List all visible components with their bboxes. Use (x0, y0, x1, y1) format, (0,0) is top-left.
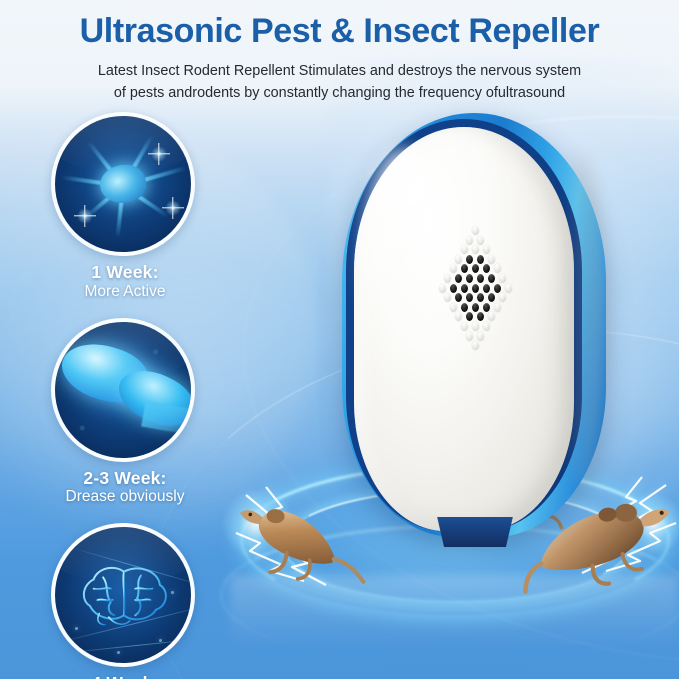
circle-gloss (55, 322, 191, 379)
subtitle-line-2: of pests androdents by constantly changi… (22, 83, 657, 105)
netdot (117, 651, 120, 654)
grille-hole (455, 293, 462, 302)
grille-hole (494, 303, 501, 312)
feature-label-primary: 1 Week: (0, 263, 250, 283)
feature-item: 2-3 Week: Drease obviously (0, 318, 250, 507)
feature-label-secondary: Drease obviously (0, 488, 250, 506)
grille-hole (444, 293, 451, 302)
brain-icon (55, 527, 191, 663)
page-title: Ultrasonic Pest & Insect Repeller (0, 0, 679, 48)
grille-hole (455, 274, 462, 283)
grille-hole (466, 332, 473, 341)
grille-hole (461, 303, 468, 312)
grille-hole (499, 274, 506, 283)
grille-hole (488, 274, 495, 283)
feature-item: 4 Week: Almost Disappea (0, 523, 250, 679)
grille-hole (494, 264, 501, 273)
grille-hole (461, 245, 468, 254)
grille-hole (477, 255, 484, 264)
netline (55, 636, 191, 655)
grille-hole (494, 284, 501, 293)
feature-circle-3 (51, 523, 195, 667)
feature-label-3: 4 Week: Almost Disappea (0, 674, 250, 679)
grille-hole (455, 312, 462, 321)
feature-label-primary: 4 Week: (0, 674, 250, 679)
grille-hole (505, 284, 512, 293)
grille-hole (477, 293, 484, 302)
grille-hole (488, 293, 495, 302)
synapse-icon (55, 322, 191, 458)
spark (77, 208, 93, 224)
grille-hole (483, 284, 490, 293)
grille-hole (483, 322, 490, 331)
feature-label-1: 1 Week: More Active (0, 263, 250, 301)
sound-wave-left (278, 335, 438, 409)
grille-hole (472, 322, 479, 331)
wall-plug-base (432, 517, 518, 547)
speaker-grille-diamond (426, 223, 524, 351)
grille-hole (483, 264, 490, 273)
grille-hole (466, 293, 473, 302)
grille-hole (477, 236, 484, 245)
feature-circle-2 (51, 318, 195, 462)
grille-hole (477, 274, 484, 283)
sound-wave-right (594, 335, 679, 409)
grille-hole (466, 312, 473, 321)
page-subtitle: Latest Insect Rodent Repellent Stimulate… (0, 61, 679, 105)
grille-hole (472, 284, 479, 293)
grille-hole (499, 293, 506, 302)
grille-hole (488, 255, 495, 264)
grille-hole (472, 264, 479, 273)
device-edge-shadow (556, 153, 604, 483)
grille-hole (477, 312, 484, 321)
grille-hole (483, 303, 490, 312)
grille-hole (439, 284, 446, 293)
grille-hole (461, 264, 468, 273)
circle-gloss (55, 527, 191, 584)
grille-hole (477, 332, 484, 341)
grille-hole (461, 284, 468, 293)
feature-label-2: 2-3 Week: Drease obviously (0, 469, 250, 507)
product-banner: Ultrasonic Pest & Insect Repeller Latest… (0, 0, 679, 679)
grille-hole (472, 245, 479, 254)
grille-hole (466, 255, 473, 264)
subtitle-line-1: Latest Insect Rodent Repellent Stimulate… (22, 61, 657, 83)
grille-hole (472, 303, 479, 312)
neuron-icon (55, 116, 191, 252)
grille-hole (466, 236, 473, 245)
feature-label-secondary: More Active (0, 283, 250, 301)
spark (165, 200, 181, 216)
feature-item: 1 Week: More Active (0, 112, 250, 301)
feature-label-primary: 2-3 Week: (0, 469, 250, 489)
grille-hole (472, 341, 479, 350)
grille-hole (488, 312, 495, 321)
grille-hole (450, 284, 457, 293)
grille-hole (472, 226, 479, 235)
grille-hole (483, 245, 490, 254)
ultrasonic-repeller-device[interactable] (330, 113, 620, 563)
grille-hole (450, 303, 457, 312)
feature-circle-1 (51, 112, 195, 256)
header: Ultrasonic Pest & Insect Repeller Latest… (0, 0, 679, 105)
grille-hole (450, 264, 457, 273)
grille-hole (466, 274, 473, 283)
grille-hole (444, 274, 451, 283)
grille-hole (455, 255, 462, 264)
grille-hole (461, 322, 468, 331)
spark (151, 146, 167, 162)
feature-timeline: 1 Week: More Active 2-3 Week: Drease obv… (0, 112, 250, 679)
